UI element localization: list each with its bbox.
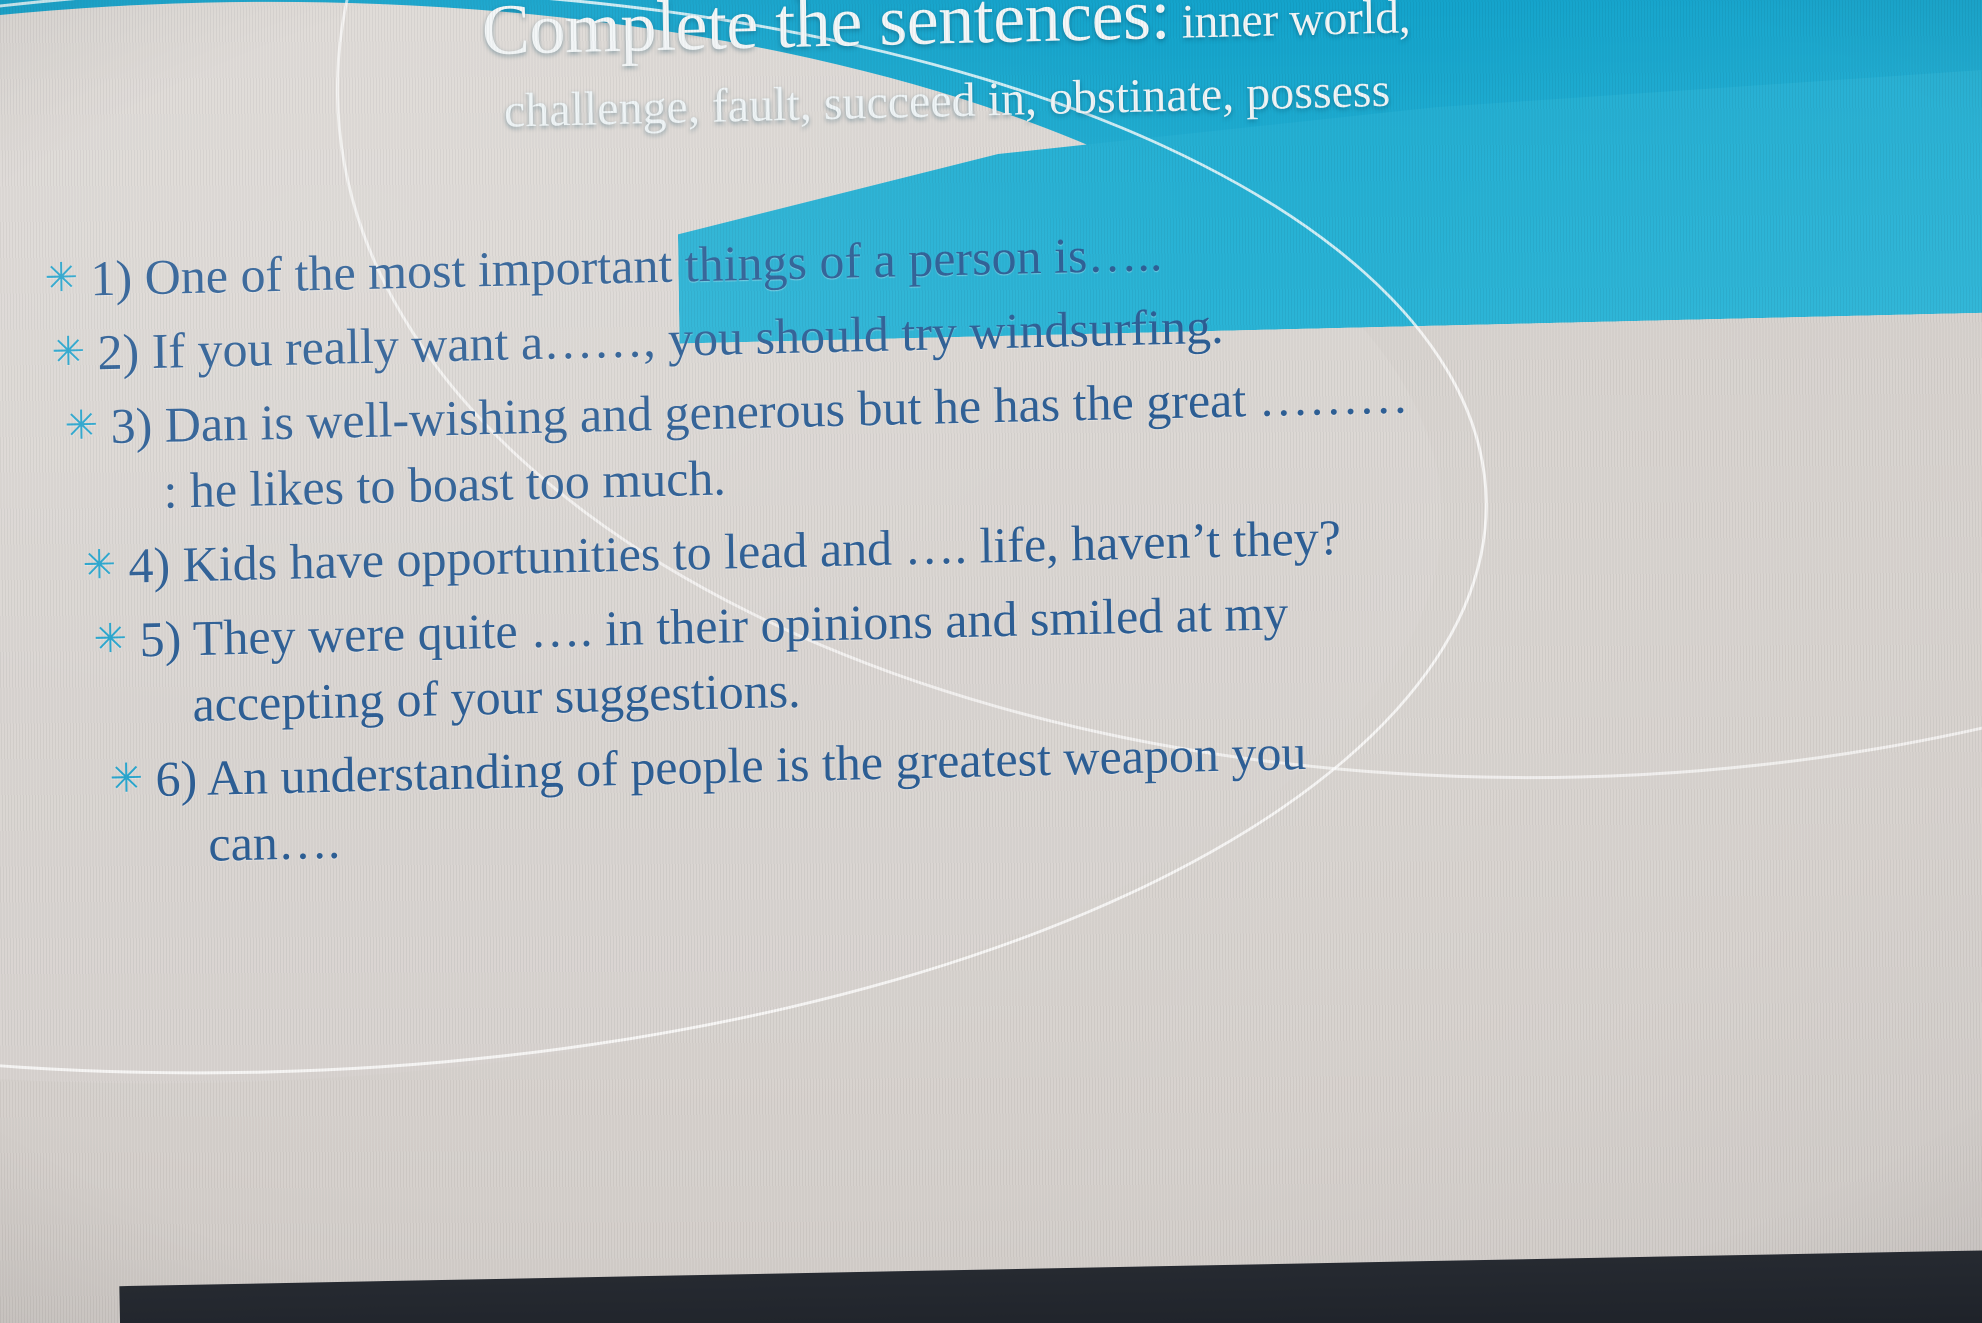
title-keywords: inner world, (1170, 0, 1411, 49)
list-item-text: 5) They were quite …. in their opinions … (139, 575, 1810, 730)
asterisk-icon: ✳ (93, 614, 140, 663)
title-lead: Complete the sentences: (481, 0, 1170, 70)
list-item-text: 2) If you really want a……, you should tr… (97, 287, 1805, 377)
asterisk-icon: ✳ (82, 541, 129, 590)
list-item-text: 6) An understanding of people is the gre… (155, 715, 1812, 870)
list-item-line-1: 2) If you really want a……, you should tr… (97, 298, 1224, 381)
asterisk-icon: ✳ (109, 754, 156, 803)
asterisk-icon: ✳ (64, 401, 111, 450)
sentence-list: ✳ 1) One of the most important things of… (44, 213, 1812, 896)
list-item: ✳ 3) Dan is well-wishing and generous bu… (64, 361, 1807, 518)
list-item-text: 4) Kids have opportunities to lead and …… (128, 501, 1808, 591)
list-item-line-1: 6) An understanding of people is the gre… (155, 724, 1307, 807)
projected-screen: Complete the sentences: inner world, cha… (0, 0, 1982, 1323)
asterisk-icon: ✳ (44, 253, 91, 302)
list-item: ✳ 5) They were quite …. in their opinion… (93, 575, 1810, 731)
slide-surface: Complete the sentences: inner world, cha… (0, 0, 1982, 1323)
list-item: ✳ 4) Kids have opportunities to lead and… (82, 501, 1808, 592)
list-item-text: 3) Dan is well-wishing and generous but … (110, 361, 1807, 517)
slide-photo: Complete the sentences: inner world, cha… (0, 0, 1982, 1323)
asterisk-icon: ✳ (51, 327, 98, 376)
list-item: ✳ 6) An understanding of people is the g… (109, 715, 1812, 871)
list-item-line-1: 4) Kids have opportunities to lead and …… (128, 509, 1341, 594)
list-item-line-1: 5) They were quite …. in their opinions … (139, 584, 1288, 667)
